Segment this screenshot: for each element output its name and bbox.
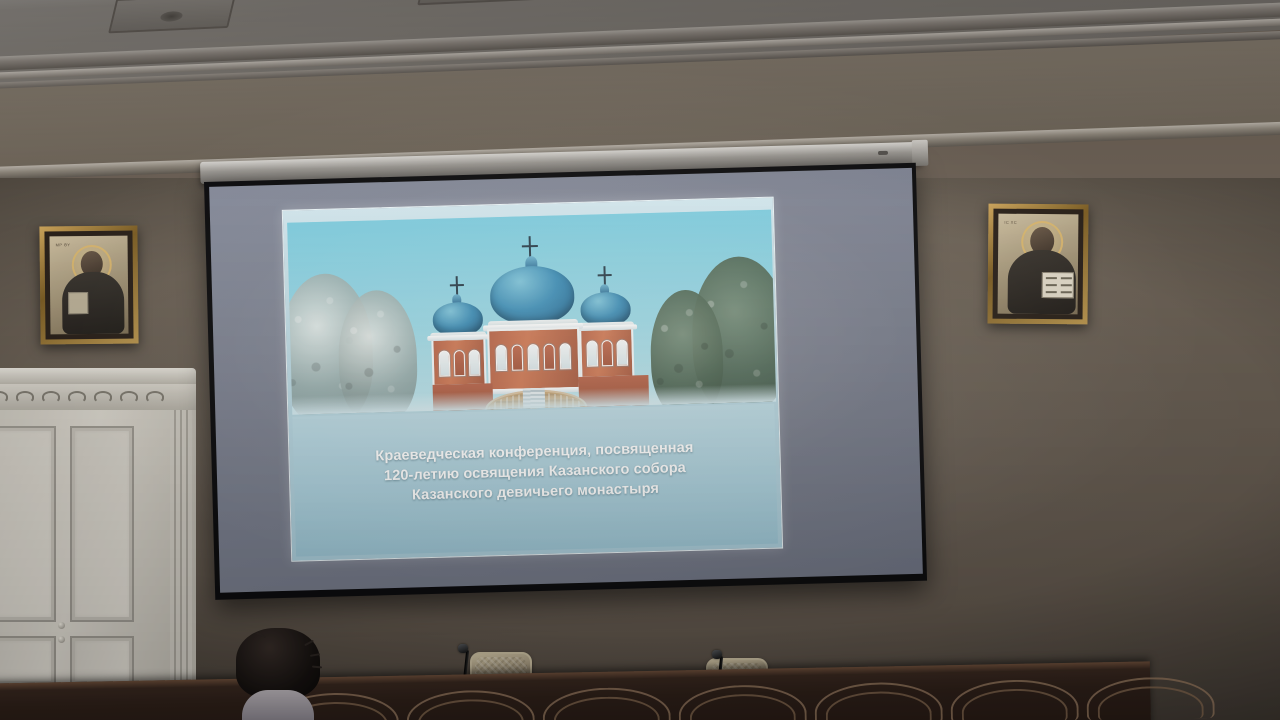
cross-center-bar (522, 245, 538, 247)
drum-left (431, 337, 486, 386)
projection-screen[interactable]: Краеведческая конференция, посвященная 1… (204, 163, 927, 600)
scroll-ornament (16, 391, 34, 403)
arch-window (512, 344, 524, 370)
arch-window (616, 340, 628, 366)
child-figure (68, 292, 88, 314)
door-cornice (0, 368, 196, 384)
slide-photo-cathedral (287, 210, 776, 415)
ceiling-light-fixture (417, 0, 545, 5)
icon-inner-mat: IC XC (993, 209, 1084, 320)
icon-frame-theotokos: МР ΘΥ (39, 225, 138, 344)
scroll-ornament (68, 391, 86, 403)
door-lock[interactable] (58, 636, 65, 643)
book-line (1061, 291, 1072, 293)
book-line (1046, 291, 1057, 293)
book-line (1046, 277, 1057, 279)
icon-inner-mat: МР ΘΥ (44, 231, 133, 340)
microphone-capsule (712, 650, 722, 659)
table-carving (950, 679, 1079, 720)
arch-window (439, 350, 451, 376)
housing-mount-dot (878, 151, 888, 155)
door-body (0, 410, 196, 698)
scroll-ornament (0, 391, 8, 403)
dome-right (580, 292, 631, 327)
ceiling-light-fixture (108, 0, 236, 33)
table-carving (678, 684, 807, 720)
ornate-door[interactable] (0, 368, 196, 698)
icon-inscription: IC XC (1004, 220, 1017, 225)
door-panel-lower-left (0, 636, 56, 686)
door-frieze-carving (0, 384, 196, 410)
icon-inscription: МР ΘΥ (56, 242, 71, 247)
dome-left (432, 302, 483, 337)
attendee-silhouette (236, 628, 320, 720)
door-panel-upper-right (70, 426, 134, 622)
cross-right-bar (598, 274, 612, 276)
conference-hall-scene: МР ΘΥ IC XC (0, 0, 1280, 720)
scroll-ornament (94, 391, 112, 403)
drum-right (579, 327, 634, 378)
microphone-capsule (458, 644, 468, 653)
scroll-ornament (42, 391, 60, 403)
screen-fabric: Краеведческая конференция, посвященная 1… (209, 168, 923, 593)
open-book (1042, 272, 1074, 298)
icon-board-pantocrator: IC XC (998, 214, 1079, 315)
door-panel-lower-right (70, 636, 134, 686)
arch-window (601, 340, 613, 366)
scroll-ornament (120, 391, 138, 403)
arch-window (586, 340, 598, 366)
arch-window (454, 350, 466, 376)
door-pilaster (170, 410, 192, 698)
drum-center (487, 327, 581, 391)
slide-caption: Краеведческая конференция, посвященная 1… (292, 404, 778, 557)
door-handle[interactable] (58, 622, 65, 629)
arch-window (528, 344, 540, 370)
book-line (1061, 277, 1072, 279)
arch-window (469, 350, 481, 376)
cathedral (415, 235, 650, 411)
scroll-ornament (146, 391, 164, 403)
projected-slide[interactable]: Краеведческая конференция, посвященная 1… (282, 197, 783, 562)
door-panel-upper-left (0, 426, 56, 622)
table-carving (542, 687, 671, 720)
table-carving (814, 681, 943, 720)
dome-center (489, 265, 575, 325)
book-line (1061, 284, 1072, 286)
table-carving (406, 689, 535, 720)
icon-frame-pantocrator: IC XC (987, 204, 1088, 325)
arch-window (496, 345, 508, 371)
book-line (1046, 284, 1057, 286)
attendee-shoulders (242, 690, 314, 720)
cross-left-bar (450, 284, 464, 286)
attendee-head (236, 628, 320, 698)
arch-window (544, 344, 556, 370)
arch-window (559, 343, 571, 369)
icon-board-theotokos: МР ΘΥ (49, 236, 128, 335)
